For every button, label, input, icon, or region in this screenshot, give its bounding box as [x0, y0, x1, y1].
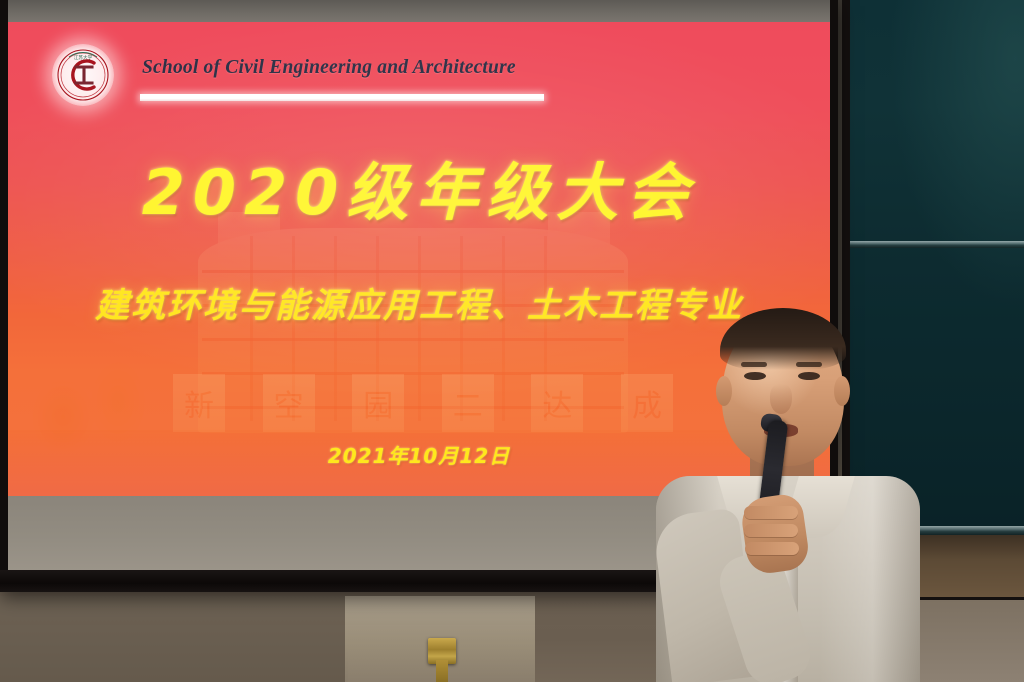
background-banner-row: 新 空 园 二 达 成: [173, 374, 673, 432]
presenter-ear-left: [716, 376, 732, 406]
background-banner-char: 空: [263, 374, 315, 432]
svg-text:江苏大学: 江苏大学: [74, 54, 93, 61]
background-banner-char: 新: [173, 374, 225, 432]
photo-scene: 新 空 园 二 达 成 江苏大学: [0, 0, 1024, 682]
background-banner-char: 达: [531, 374, 583, 432]
presenter-ear-right: [834, 376, 850, 406]
presenter-finger: [744, 506, 798, 519]
presenter-eye-right: [798, 372, 820, 380]
presenter-figure: [640, 300, 940, 682]
presenter-eye-left: [744, 372, 766, 380]
screen-top-band: [8, 0, 830, 22]
slide-header: 江苏大学 School of Civil Engineering and Arc…: [52, 44, 572, 120]
lower-wall-dark-panel: [0, 596, 348, 682]
university-crest-logo-icon: 江苏大学: [52, 44, 114, 106]
slide-title-main: 2020级年级大会: [8, 162, 830, 224]
presenter-eyebrow-left: [741, 362, 767, 367]
background-banner-char: 园: [352, 374, 404, 432]
presenter-nose: [770, 384, 792, 414]
presenter-finger: [744, 524, 798, 537]
presenter-hair: [720, 308, 846, 370]
background-banner-char: 二: [442, 374, 494, 432]
school-name-text: School of Civil Engineering and Architec…: [142, 57, 516, 79]
presenter-eyebrow-right: [796, 362, 822, 367]
header-divider-rule: [140, 94, 544, 101]
brass-fixture-stem: [436, 660, 448, 682]
chalk-rail-upper: [850, 241, 1024, 248]
presenter-finger: [745, 542, 799, 555]
